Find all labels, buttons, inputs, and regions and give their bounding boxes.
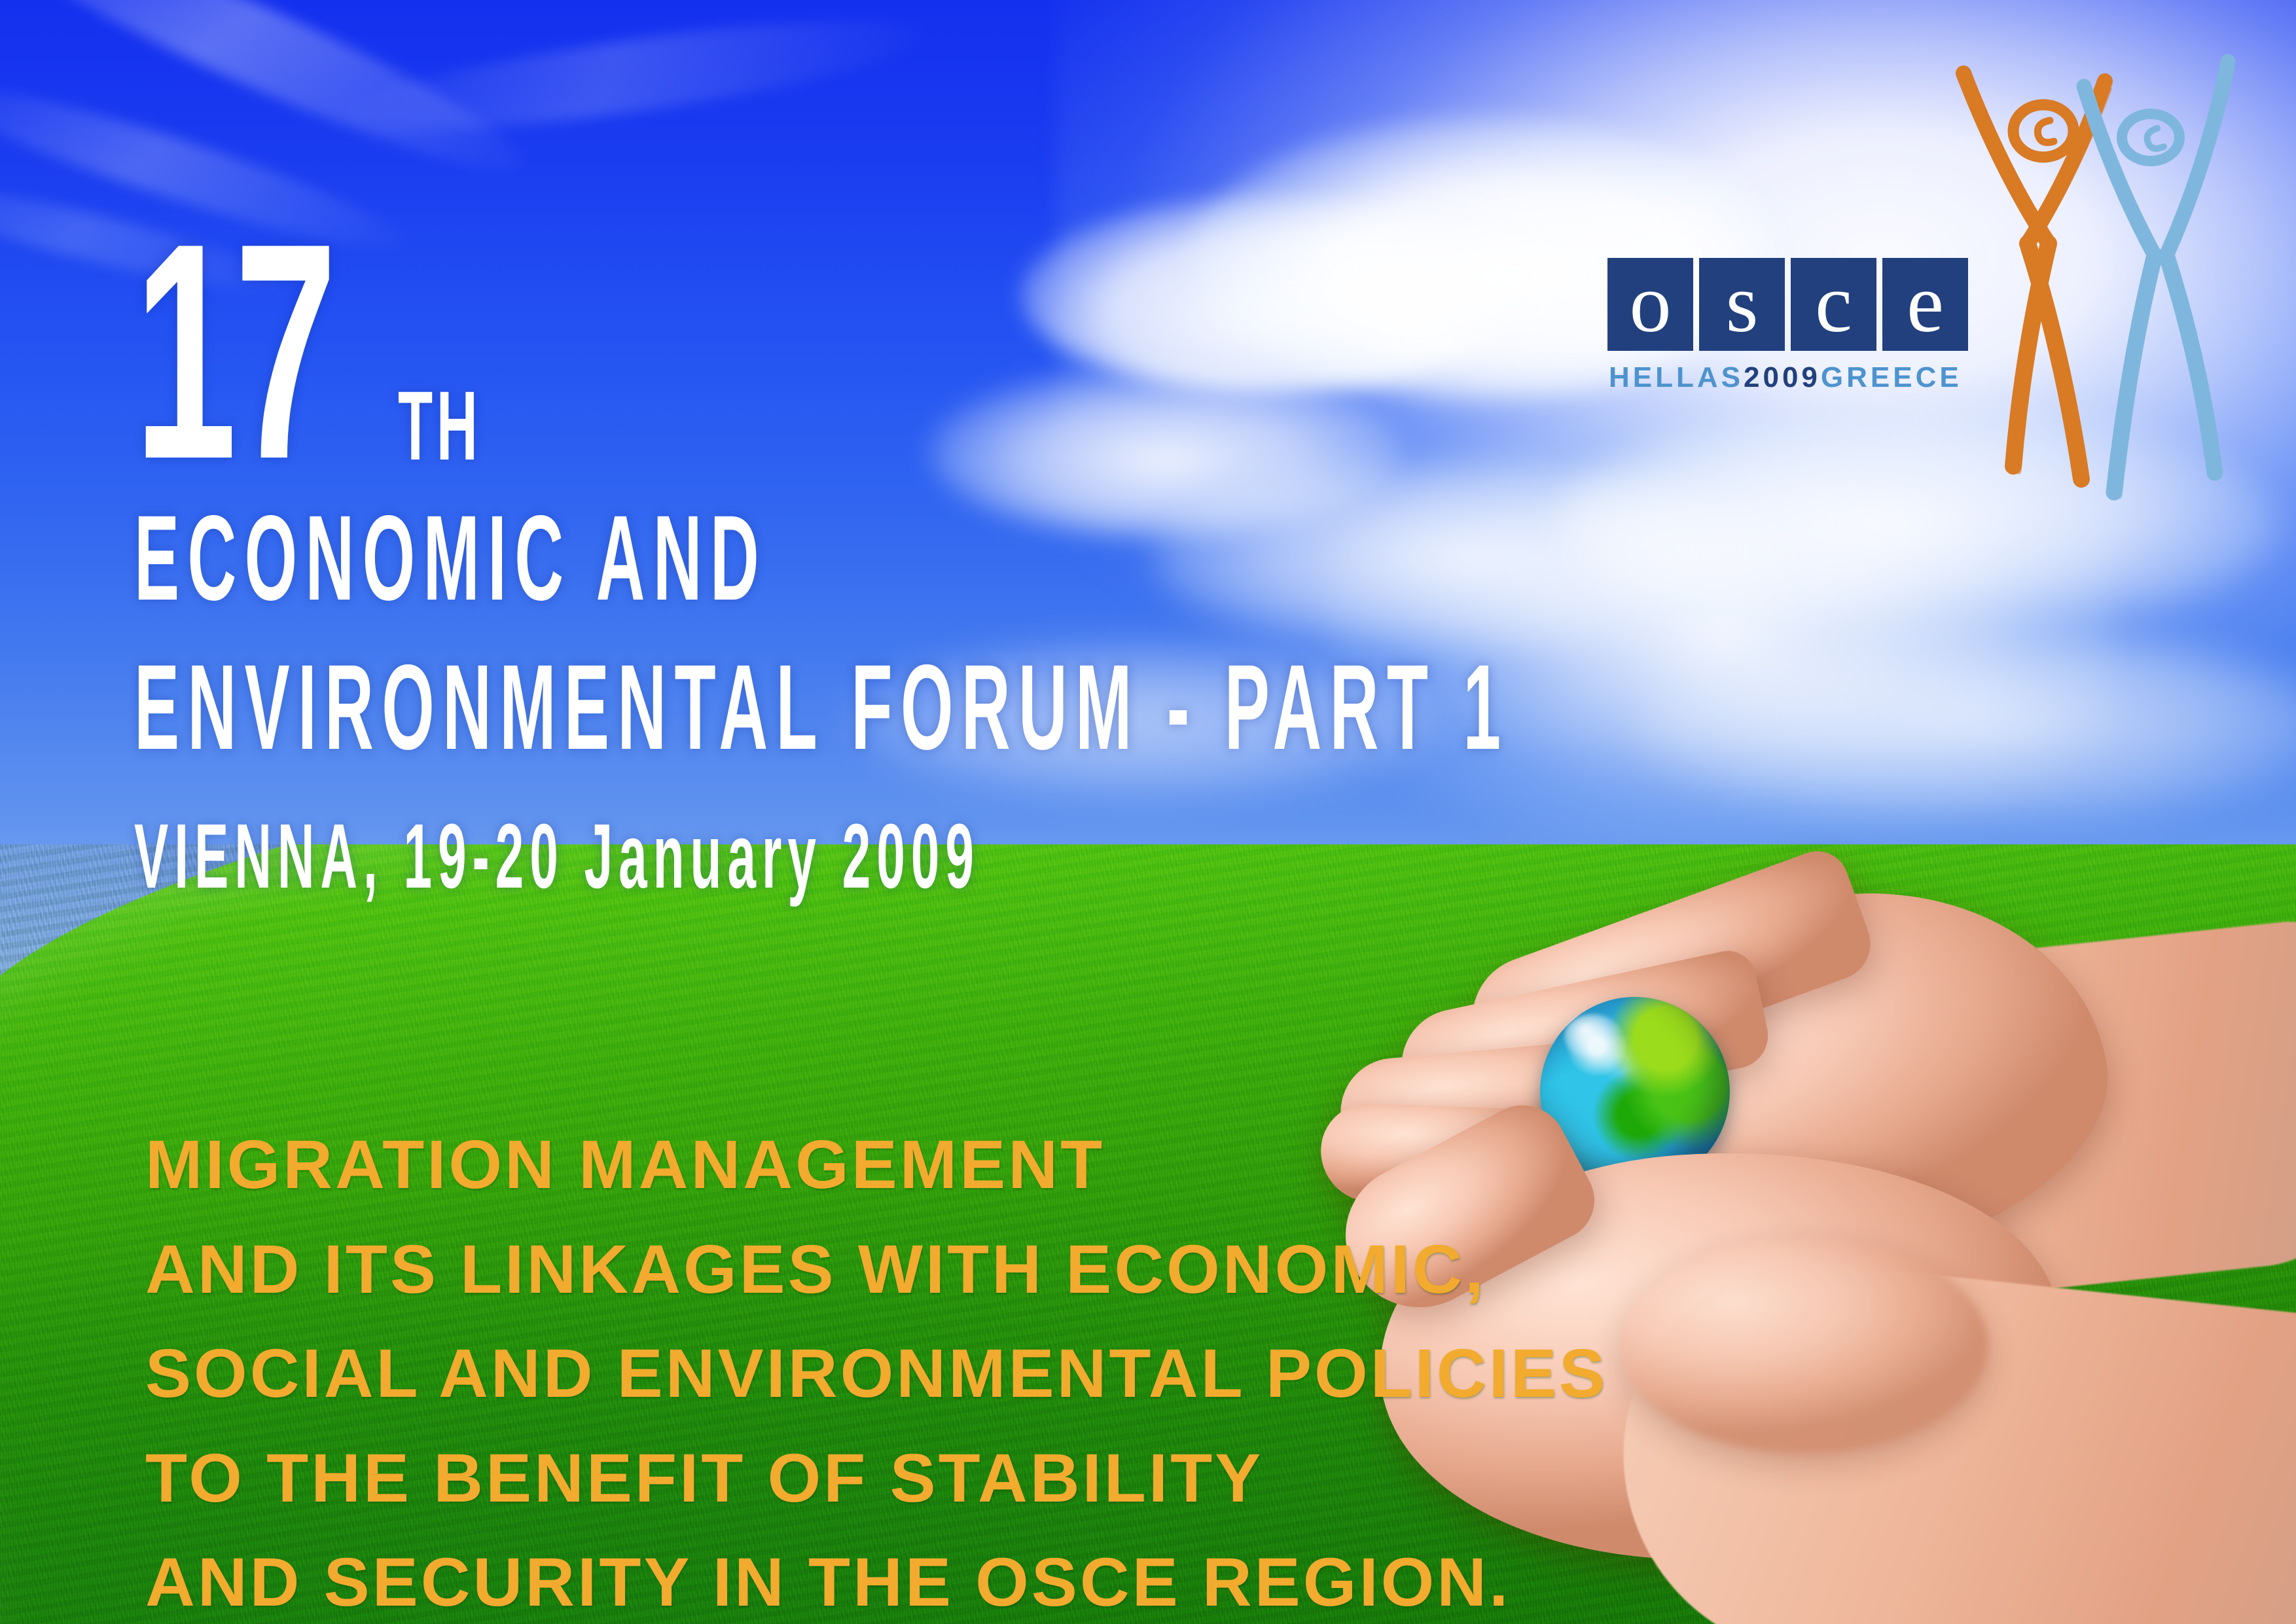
poster-canvas: o s c e HELLAS2009GREECE (0, 0, 2296, 1624)
topic-line: SOCIAL AND ENVIRONMENTAL POLICIES (145, 1335, 1607, 1412)
venue-and-dates: VIENNA, 19-20 January 2009 (134, 803, 1509, 909)
event-title-block: 17 TH ECONOMIC AND ENVIRONMENTAL FORUM -… (134, 249, 2296, 909)
forum-topic-block: MIGRATION MANAGEMENT AND ITS LINKAGES WI… (145, 1113, 2296, 1624)
topic-line: AND SECURITY IN THE OSCE REGION. (145, 1544, 1511, 1621)
globe-highlight (1564, 1014, 1623, 1060)
edition-number: 17 (134, 228, 334, 475)
topic-line: TO THE BENEFIT OF STABILITY (145, 1440, 1263, 1517)
title-line-environmental-forum: ENVIRONMENTAL FORUM - PART 1 (134, 638, 1509, 777)
edition-number-row: 17 TH (134, 249, 2296, 475)
edition-ordinal-suffix: TH (398, 380, 482, 471)
topic-line: MIGRATION MANAGEMENT (145, 1127, 1105, 1203)
title-line-economic-and: ECONOMIC AND (134, 489, 1509, 628)
topic-line: AND ITS LINKAGES WITH ECONOMIC, (145, 1231, 1486, 1308)
